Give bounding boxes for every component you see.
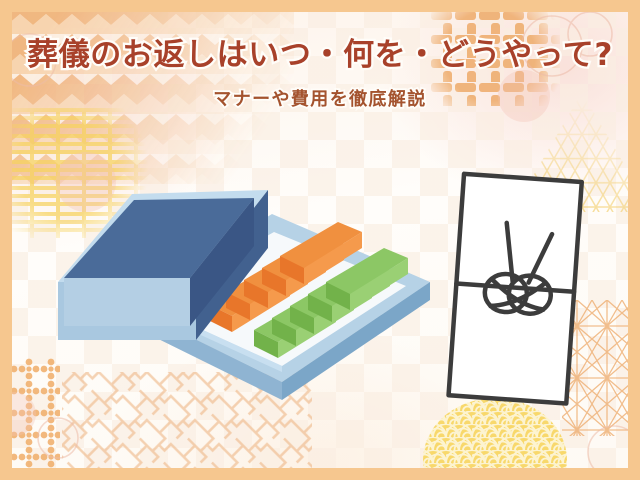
floral-komon-pattern bbox=[0, 358, 60, 480]
page-subtitle: マナーや費用を徹底解説 bbox=[0, 85, 640, 111]
koden-envelope-illustration bbox=[430, 166, 610, 416]
gift-box-illustration bbox=[58, 186, 438, 416]
heading-block: 葬儀のお返しはいつ・何を・どうやって? マナーや費用を徹底解説 bbox=[0, 38, 640, 111]
page-title: 葬儀のお返しはいつ・何を・どうやって? bbox=[0, 38, 640, 73]
thumbnail-card: 葬儀のお返しはいつ・何を・どうやって? マナーや費用を徹底解説 bbox=[0, 0, 640, 480]
